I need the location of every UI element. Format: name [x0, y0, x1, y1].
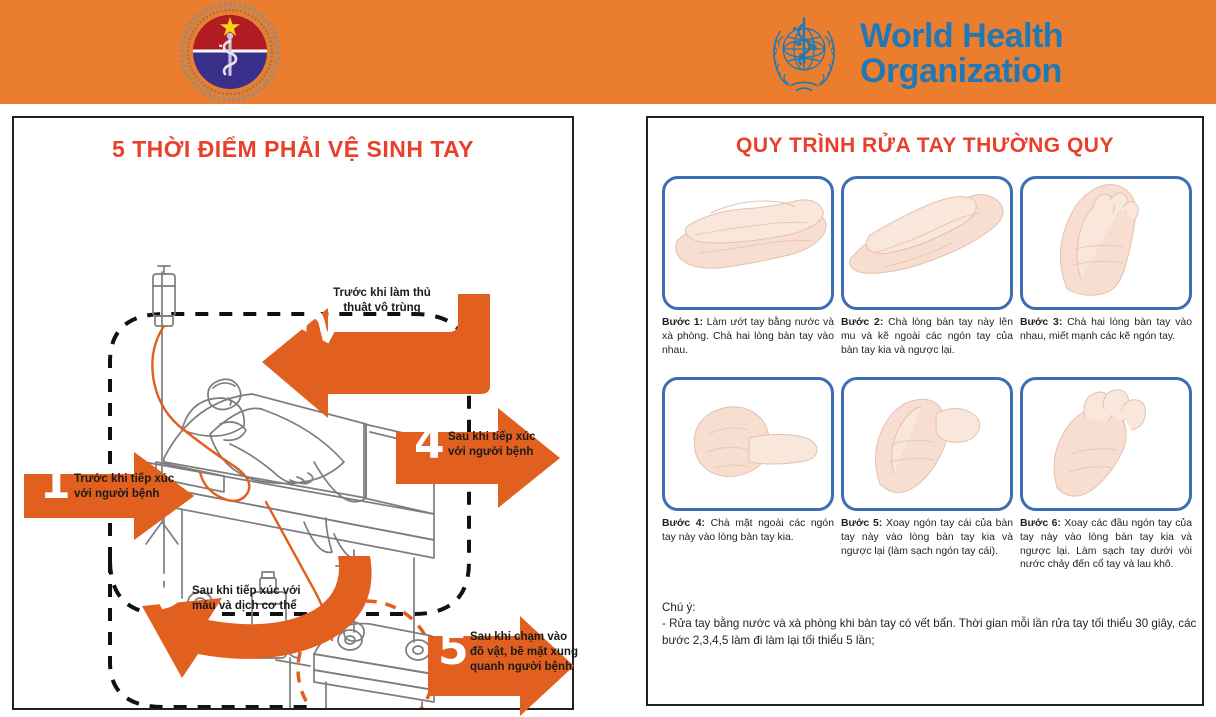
left-panel-five-moments: 5 THỜI ĐIỂM PHẢI VỆ SINH TAY: [12, 116, 574, 710]
step-1-image-box: [662, 176, 834, 310]
moment-4-arrow: [392, 404, 572, 514]
step-5-caption: Bước 5: Xoay ngón tay cái của bàn tay nà…: [841, 517, 1013, 569]
interlaced-fingers-photo: [1023, 179, 1189, 307]
ministry-of-health-vietnam-emblem: [180, 2, 280, 102]
moment-5-arrow: [424, 614, 584, 717]
five-moments-diagram: 1 Trước khi tiếp xúc với người bệnh 2 Tr…: [14, 162, 572, 708]
step-cell-2: Bước 2: Chà lòng bàn tay này lên mu và k…: [841, 176, 1013, 377]
step-1-caption: Bước 1: Làm ướt tay bằng nước và xà phòn…: [662, 316, 834, 368]
who-emblem-icon: [762, 14, 846, 94]
left-panel-title: 5 THỜI ĐIỂM PHẢI VỆ SINH TAY: [14, 136, 572, 163]
handwash-steps-grid: Bước 1: Làm ướt tay bằng nước và xà phòn…: [662, 176, 1192, 581]
step-cell-5: Bước 5: Xoay ngón tay cái của bàn tay nà…: [841, 377, 1013, 581]
step-2-label: Bước 2:: [841, 317, 883, 328]
step-6-caption: Bước 6: Xoay các đầu ngón tay của tay nà…: [1020, 517, 1192, 572]
who-logo: World Health Organization: [762, 14, 1063, 94]
step-3-caption: Bước 3: Chà hai lòng bàn tay vào nhau, m…: [1020, 316, 1192, 368]
step-4-image-box: [662, 377, 834, 511]
step-6-label: Bước 6:: [1020, 518, 1061, 529]
who-wordmark-line1: World Health: [860, 19, 1063, 54]
step-2-caption: Bước 2: Chà lòng bàn tay này lên mu và k…: [841, 316, 1013, 368]
poster-root: World Health Organization 5 THỜI ĐIỂM PH…: [0, 0, 1216, 717]
who-wordmark: World Health Organization: [860, 19, 1063, 88]
step-4-label: Bước 4:: [662, 518, 705, 529]
step-3-label: Bước 3:: [1020, 317, 1062, 328]
step-cell-6: Bước 6: Xoay các đầu ngón tay của tay nà…: [1020, 377, 1192, 581]
step-5-image-box: [841, 377, 1013, 511]
step-2-image-box: [841, 176, 1013, 310]
moment-3-arrow: [112, 550, 402, 690]
handwash-note: Chú ý: - Rửa tay bằng nước và xà phòng k…: [662, 600, 1198, 649]
step-3-image-box: [1020, 176, 1192, 310]
right-panel-title: QUY TRÌNH RỬA TAY THƯỜNG QUY: [648, 134, 1202, 158]
step-4-caption: Bước 4: Chà mặt ngoài các ngón tay này v…: [662, 517, 834, 569]
hand-rubbing-back-of-hand-photo: [844, 179, 1010, 307]
rotational-thumb-rubbing-photo: [844, 380, 1010, 508]
header-bar: World Health Organization: [0, 0, 1216, 104]
note-title: Chú ý:: [662, 600, 1198, 616]
right-panel-handwash-procedure: QUY TRÌNH RỬA TAY THƯỜNG QUY: [646, 116, 1204, 706]
step-cell-4: Bước 4: Chà mặt ngoài các ngón tay này v…: [662, 377, 834, 581]
note-body: - Rửa tay bằng nước và xà phòng khi bàn …: [662, 616, 1198, 649]
step-6-image-box: [1020, 377, 1192, 511]
backs-of-fingers-photo: [665, 380, 831, 508]
step-cell-3: Bước 3: Chà hai lòng bàn tay vào nhau, m…: [1020, 176, 1192, 377]
step-1-label: Bước 1:: [662, 317, 703, 328]
step-cell-1: Bước 1: Làm ướt tay bằng nước và xà phòn…: [662, 176, 834, 377]
moment-1-arrow: [18, 448, 268, 558]
hands-rubbing-palms-photo: [665, 179, 831, 307]
step-5-label: Bước 5:: [841, 518, 882, 529]
who-wordmark-line2: Organization: [860, 54, 1063, 89]
fingertips-in-palm-photo: [1023, 380, 1189, 508]
